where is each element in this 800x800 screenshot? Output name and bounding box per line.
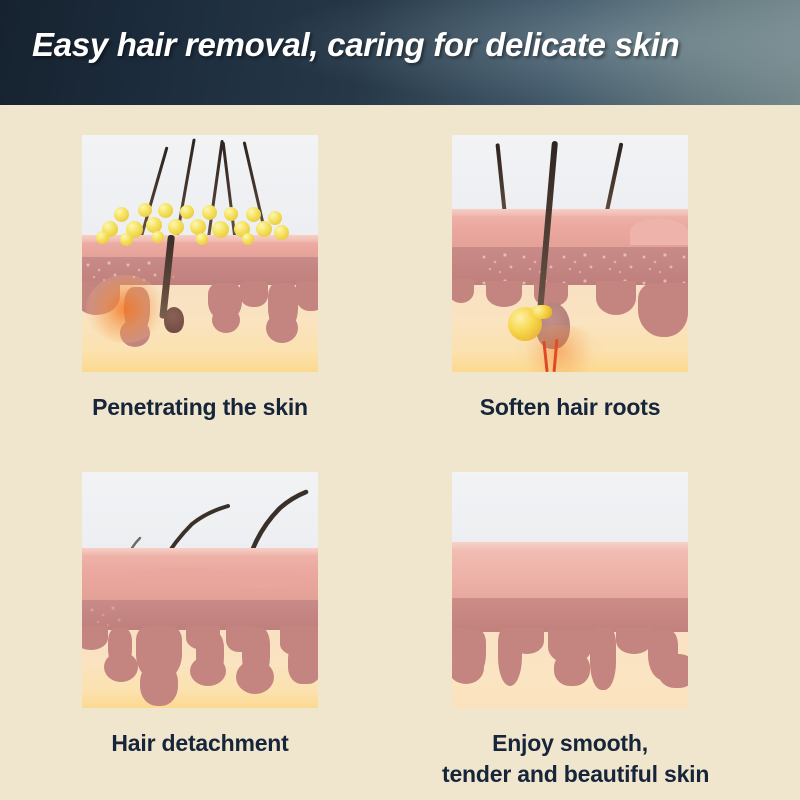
dermis-lobe	[236, 660, 274, 694]
caption-line: tender and beautiful skin	[442, 759, 698, 790]
dermis-lobe	[510, 628, 544, 654]
granule	[168, 219, 184, 235]
cream-granules	[96, 191, 292, 247]
dermis-lobe	[212, 307, 240, 333]
dermis-lobe	[140, 662, 178, 706]
step-caption-soften-roots: Soften hair roots	[442, 392, 698, 423]
dermis-lobe	[596, 281, 636, 315]
dermis-lobe	[616, 628, 652, 654]
granule	[152, 231, 164, 243]
dermis-lobe	[658, 654, 688, 688]
epidermis-surface	[452, 209, 688, 216]
epidermis-surface	[82, 548, 318, 555]
air-region	[452, 135, 688, 217]
epidermis-surface	[452, 542, 688, 551]
step-card-smooth-skin: Enjoy smooth, tender and beautiful skin	[452, 472, 698, 789]
dermis-lobe	[638, 283, 688, 337]
step-caption-penetrating: Penetrating the skin	[82, 392, 318, 423]
granule	[242, 233, 254, 245]
caption-line: Soften hair roots	[442, 392, 698, 423]
granule	[212, 221, 229, 238]
dermis-lobe	[554, 652, 590, 686]
granule	[96, 231, 109, 244]
granule	[274, 225, 289, 240]
sebaceous-duct	[530, 305, 552, 319]
caption-line: Enjoy smooth,	[442, 728, 698, 759]
granule	[180, 205, 194, 219]
skin-ripple	[128, 568, 238, 586]
granule	[120, 233, 133, 246]
dermis-lobe	[590, 628, 616, 690]
granule	[138, 203, 152, 217]
granule	[246, 207, 261, 222]
step-caption-smooth-skin: Enjoy smooth, tender and beautiful skin	[442, 728, 698, 789]
page-title: Easy hair removal, caring for delicate s…	[32, 26, 772, 64]
skin-bump	[630, 219, 688, 245]
skin-ripple	[222, 572, 302, 588]
granule	[196, 233, 208, 245]
dermis-lobe	[288, 642, 318, 684]
hair-follicle-bulb	[164, 307, 184, 333]
infographic-poster: Easy hair removal, caring for delicate s…	[0, 0, 800, 800]
dermis-lobe	[190, 656, 226, 686]
air-region	[452, 472, 688, 546]
granule	[268, 211, 282, 225]
step-card-soften-roots: Soften hair roots	[452, 135, 698, 423]
granule	[202, 205, 217, 220]
dermis-lobe	[104, 652, 138, 682]
illustration-smooth-skin	[452, 472, 688, 708]
illustration-hair-detachment	[82, 472, 318, 708]
illustration-penetrating-the-skin	[82, 135, 318, 372]
granule	[224, 207, 238, 221]
step-caption-hair-detachment: Hair detachment	[82, 728, 318, 759]
epidermis-layer	[452, 542, 688, 604]
granule	[114, 207, 129, 222]
dermis-lobe	[240, 281, 268, 307]
dermis-lobe	[266, 313, 298, 343]
granule	[158, 203, 173, 218]
header-banner: Easy hair removal, caring for delicate s…	[0, 0, 800, 105]
dermis-lobe	[296, 281, 318, 311]
caption-line: Hair detachment	[82, 728, 318, 759]
dermis-lobe	[486, 281, 522, 307]
caption-line: Penetrating the skin	[82, 392, 318, 423]
step-card-hair-detachment: Hair detachment	[82, 472, 318, 759]
step-card-penetrating: Penetrating the skin	[82, 135, 318, 423]
illustration-soften-hair-roots	[452, 135, 688, 372]
dermis-lobe	[120, 319, 150, 347]
